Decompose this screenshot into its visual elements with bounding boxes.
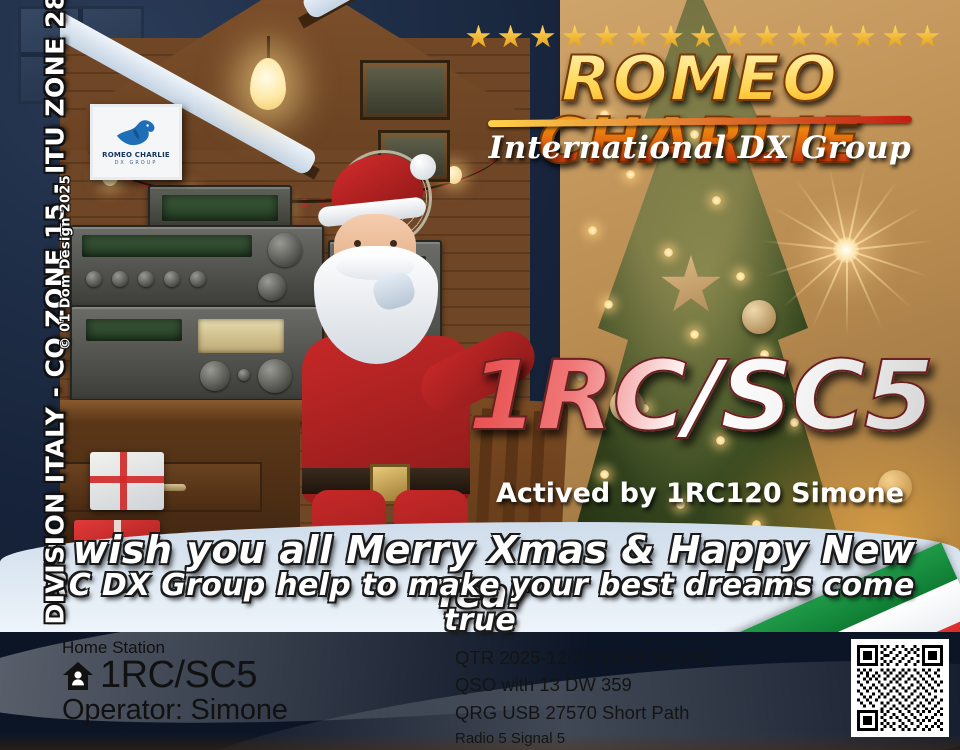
activated-by-label: Actived by 1RC120 Simone	[452, 478, 948, 509]
signal-report-label: Radio 5 Signal 5	[455, 730, 714, 747]
qr-code-image	[857, 645, 943, 731]
home-callsign: 1RC/SC5	[100, 656, 257, 696]
gift-box	[90, 452, 164, 510]
operator-label: Operator: Simone	[62, 694, 288, 727]
copyright-label: © 01 Dom Design 2025	[59, 113, 74, 413]
qso-line-qtr: QTR 2025-12-23 13:41:15 UTC	[455, 644, 714, 671]
greeting-line-2: RC DX Group help to make your best dream…	[40, 568, 920, 638]
star-icon	[466, 25, 491, 50]
starburst-light-icon	[761, 165, 931, 335]
qr-code[interactable]	[851, 639, 949, 737]
star-icon	[883, 25, 908, 50]
callsign-title: 1RC/SC5	[437, 348, 960, 444]
qsl-card: ROMEO CHARLIE International DX Group ROM…	[0, 0, 960, 750]
badge-line2: DX GROUP	[115, 160, 158, 166]
dove-icon	[114, 118, 158, 148]
qso-line-qso: QSO with 13 DW 359	[455, 671, 714, 698]
qso-details-block: QTR 2025-12-23 13:41:15 UTC QSO with 13 …	[455, 644, 714, 747]
qso-line-qrg: QRG USB 27570 Short Path	[455, 699, 714, 726]
brand-subtitle: International DX Group	[455, 130, 945, 166]
badge-line1: ROMEO CHARLIE	[102, 151, 170, 159]
club-logo-badge: ROMEO CHARLIE DX GROUP	[90, 104, 182, 180]
star-icon	[851, 25, 876, 50]
star-icon	[915, 25, 940, 50]
home-station-block: Home Station 1RC/SC5 Operator: Simone	[62, 638, 288, 727]
home-icon	[62, 660, 94, 692]
star-icon	[498, 25, 523, 50]
star-icon	[530, 25, 555, 50]
